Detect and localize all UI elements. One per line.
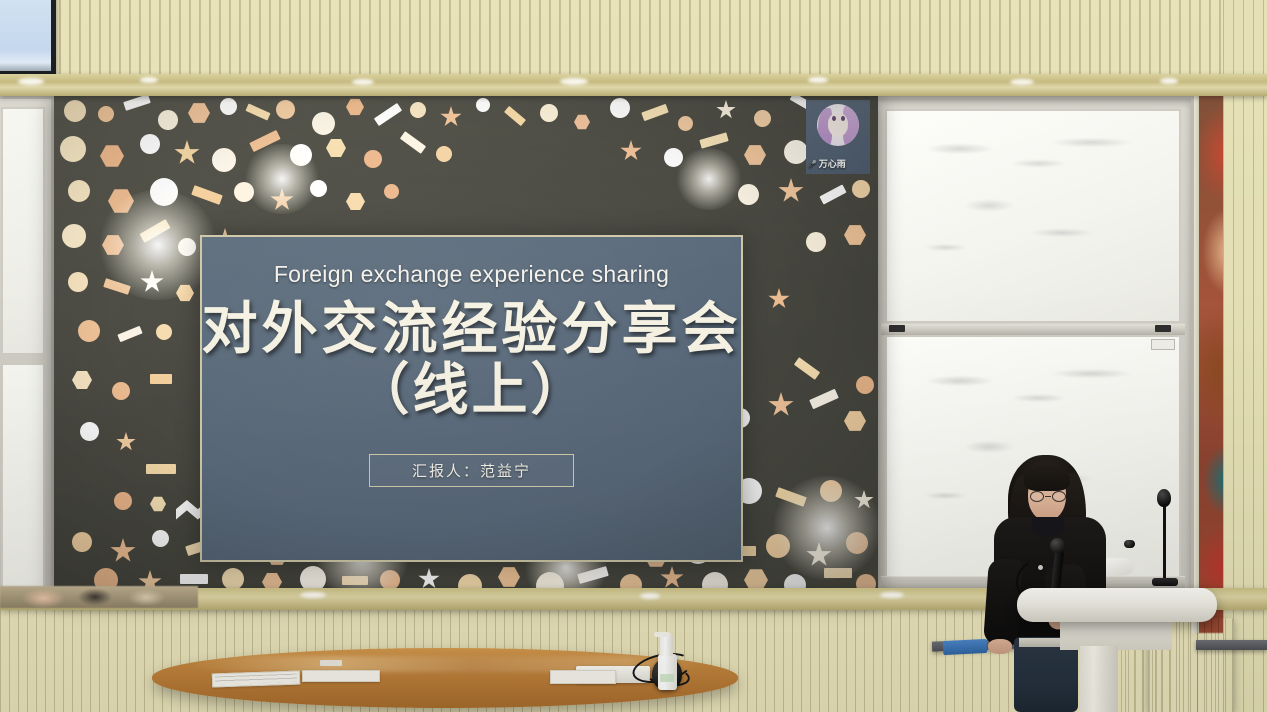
confetti-piece [856,376,874,394]
confetti-piece [112,382,130,400]
microphone-icon: 🎤 [808,160,817,168]
confetti-piece [809,389,839,410]
confetti-piece [610,98,630,118]
glasses-bridge [1045,496,1051,497]
confetti-piece [290,144,312,166]
upper-brass-trim [0,74,1267,96]
confetti-piece [754,110,771,127]
avatar-eye-right [841,116,845,121]
confetti-piece [276,100,295,119]
confetti-piece [342,576,368,585]
confetti-piece [98,106,114,122]
confetti-piece [72,370,92,390]
light-glow [676,148,742,210]
presenter-glasses [1030,491,1066,502]
gooseneck-mic-stem [1163,498,1166,582]
confetti-piece [191,185,223,205]
whiteboard-left-top-panel [1,107,45,355]
confetti-star [660,566,684,590]
confetti-piece [310,180,327,197]
confetti-piece [62,224,86,248]
confetti-piece [699,132,728,148]
projection-screen: Foreign exchange experience sharing 对外交流… [54,92,878,594]
auxiliary-display[interactable] [0,0,56,76]
participant-name: 万心雨 [819,157,846,170]
document-sheet[interactable] [550,670,616,684]
whiteboard-marker-ghosting [887,111,1179,321]
confetti-piece [220,98,237,115]
confetti-piece [68,180,90,202]
glasses-lens-right [1052,491,1066,502]
confetti-piece [103,278,131,295]
confetti-piece [60,136,86,162]
confetti-piece [738,184,759,205]
confetti-piece [140,134,160,154]
whiteboard-divider-rail [881,323,1185,335]
presentation-slide: Foreign exchange experience sharing 对外交流… [54,92,878,594]
confetti-piece [188,102,210,124]
confetti-piece [108,188,134,214]
confetti-piece [504,106,526,126]
participant-name-row: 🎤 万心雨 [808,157,846,170]
document-text-lines [215,674,297,685]
confetti-piece [346,192,365,211]
confetti-piece [68,272,88,292]
whiteboard-left-bottom-panel [1,363,45,589]
confetti-piece [140,219,171,243]
confetti-piece [498,566,520,588]
confetti-piece [180,574,208,584]
podium-column [1080,646,1118,712]
confetti-star [768,392,794,418]
confetti-star [620,140,642,162]
confetti-piece [400,131,426,154]
confetti-piece [72,532,92,552]
confetti-piece [476,98,490,112]
confetti-piece [117,326,142,342]
confetti-piece [178,238,196,256]
confetti-piece [222,568,244,590]
confetti-piece [152,530,169,547]
confetti-star [854,490,874,510]
confetti-piece [158,110,178,130]
confetti-piece [806,232,826,252]
whiteboard-left [0,96,54,601]
poster-strip [0,586,198,608]
confetti-piece [852,180,870,198]
sanitizer-label [660,674,674,682]
document-sheet[interactable] [212,670,300,687]
whiteboard-clip-left [889,325,905,332]
confetti-star [140,270,164,294]
confetti-piece [245,103,270,120]
confetti-piece [150,178,178,206]
slide-title-chinese-line1: 对外交流经验分享会 [202,298,742,361]
confetti-piece [641,104,669,121]
confetti-star [440,106,462,128]
confetti-piece [326,138,346,158]
video-participant-tile[interactable]: 🎤 万心雨 [806,100,870,174]
confetti-piece [114,492,132,510]
confetti-piece [844,224,866,246]
confetti-piece [64,100,86,122]
conference-table [152,648,738,708]
confetti-piece [234,182,254,202]
lecture-hall-scene: Foreign exchange experience sharing 对外交流… [0,0,1267,712]
document-sheet[interactable] [302,670,380,682]
slide-title-card: Foreign exchange experience sharing 对外交流… [200,235,743,562]
confetti-piece [766,534,790,558]
confetti-piece [150,374,172,384]
confetti-piece [346,98,364,116]
confetti-star [778,178,804,204]
confetti-piece [146,464,176,474]
confetti-star [110,538,136,564]
avatar-eye-left [832,116,836,121]
handheld-microphone-head[interactable] [1050,538,1065,553]
confetti-piece [784,140,808,164]
confetti-piece [102,234,124,256]
podium-desktop[interactable] [1017,588,1217,622]
presenter-hair-front [1024,465,1070,491]
confetti-piece [249,130,280,152]
slide-title-chinese-line2: （线上） [354,361,590,420]
confetti-piece [436,146,452,162]
glasses-lens-left [1030,491,1044,502]
confetti-star [716,100,736,120]
confetti-piece [80,422,99,441]
confetti-piece [123,94,151,111]
confetti-star [418,568,440,590]
confetti-piece [384,184,399,199]
confetti-piece [744,144,766,166]
confetti-piece [820,480,842,502]
gooseneck-mic-head[interactable] [1157,489,1171,507]
confetti-piece [664,148,683,167]
confetti-piece [844,410,866,432]
confetti-piece [364,150,382,168]
avatar-face [828,113,848,137]
confetti-piece [212,148,236,172]
slide-presenter-label: 汇报人：范益宁 [369,454,574,487]
confetti-star [806,542,832,568]
whiteboard-clip-right [1155,325,1171,332]
confetti-star [116,432,136,452]
side-desk-right [1196,640,1267,650]
gooseneck-mic-head-2[interactable] [1124,540,1135,548]
whiteboard-label-sticker [1151,339,1175,350]
confetti-piece [819,184,846,204]
confetti-star [174,140,200,166]
confetti-piece [156,324,172,340]
confetti-piece [176,284,194,302]
confetti-piece [794,357,820,380]
whiteboard-top-panel [885,109,1181,323]
gooseneck-mic-base [1152,578,1178,586]
confetti-piece [824,568,852,578]
slide-subtitle-english: Foreign exchange experience sharing [274,261,669,288]
confetti-piece [846,532,868,554]
confetti-piece [374,103,402,126]
confetti-piece [775,487,807,507]
confetti-piece [574,114,590,130]
presenter-hand-left [988,639,1012,654]
sanitizer-pump[interactable] [660,634,673,656]
confetti-piece [540,104,558,122]
confetti-piece [410,102,426,118]
sanitizer-nozzle [654,632,670,637]
confetti-piece [678,116,693,131]
presenter-collar [1032,517,1064,537]
small-table-object[interactable] [320,660,342,666]
confetti-piece [100,144,124,168]
anime-avatar-icon [817,104,859,146]
blue-folder[interactable] [943,639,988,655]
confetti-piece [312,112,335,135]
confetti-star [768,288,790,310]
confetti-piece [78,320,100,342]
confetti-piece [150,496,166,512]
confetti-piece [577,566,609,584]
confetti-piece [380,570,400,590]
hand-sanitizer-bottle[interactable] [658,654,677,690]
confetti-star [270,188,294,212]
